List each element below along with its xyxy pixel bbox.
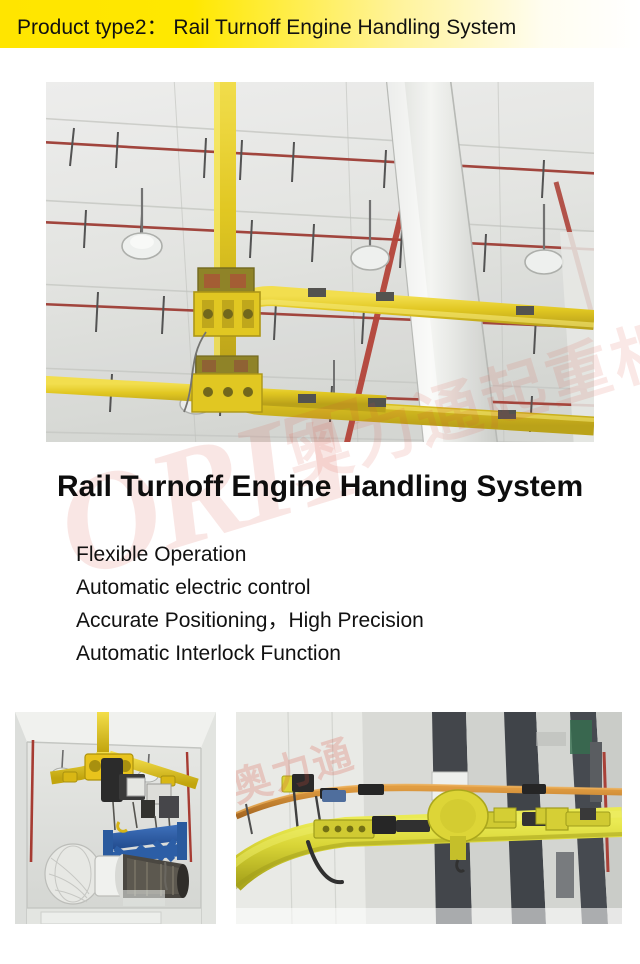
left-photo-graphic (15, 712, 216, 924)
header-bar: Product type2： Rail Turnoff Engine Handl… (0, 0, 640, 48)
secondary-photo-right[interactable]: 奥力通 (236, 712, 622, 924)
feature-item: Accurate Positioning，High Precision (76, 604, 596, 637)
product-title: Rail Turnoff Engine Handling System (57, 470, 597, 504)
feature-item: Flexible Operation (76, 538, 596, 571)
header-title: Product type2： Rail Turnoff Engine Handl… (17, 11, 516, 41)
feature-item: Automatic Interlock Function (76, 637, 596, 670)
hero-photo-graphic (46, 82, 594, 442)
secondary-photo-left[interactable] (15, 712, 216, 924)
feature-list: Flexible Operation Automatic electric co… (76, 538, 596, 670)
feature-item: Automatic electric control (76, 571, 596, 604)
hero-product-photo[interactable] (46, 82, 594, 442)
